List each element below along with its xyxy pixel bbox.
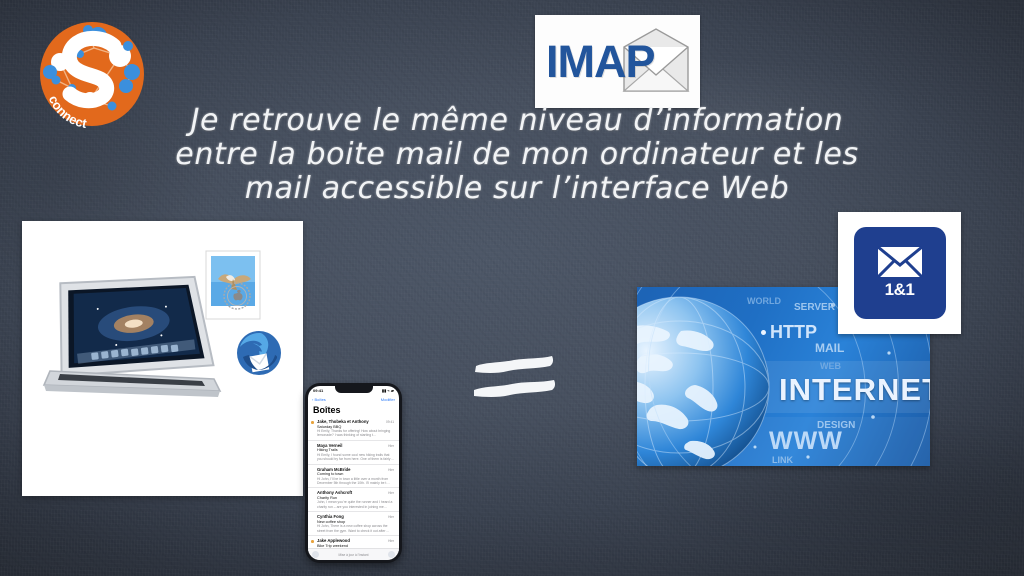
unread-dot <box>311 469 314 472</box>
mail-subject: Saturday BBQ <box>317 425 394 429</box>
mail-sender: Cynthia Fong <box>317 514 344 519</box>
mail-date: Hier <box>388 515 394 519</box>
nav-back-button[interactable]: ‹ Boîtes <box>312 397 326 402</box>
unread-dot <box>311 421 314 424</box>
imap-logo-card: IMAP <box>535 15 700 108</box>
nav-edit-button[interactable]: Modifier <box>381 397 395 402</box>
globe-word-web: WEB <box>820 361 841 371</box>
globe-word-server: SERVER <box>794 302 835 313</box>
globe-word-http: HTTP <box>770 322 817 343</box>
mail-sender: Jake Applewood <box>317 538 350 543</box>
nav-back-label: Boîtes <box>314 397 325 402</box>
mail-sender: Anthony Ashcroft <box>317 490 352 495</box>
list-item[interactable]: Cynthia Fong Hier New coffee shop Hi Joh… <box>308 512 399 536</box>
imap-label: IMAP <box>546 37 655 87</box>
mail-date: Hier <box>388 539 394 543</box>
compose-icon[interactable] <box>388 551 395 558</box>
oneandone-logo-card: 1&1 <box>838 212 961 334</box>
unread-dot <box>311 516 314 519</box>
unread-dot <box>311 492 314 495</box>
globe-word-internet: INTERNET <box>779 372 930 408</box>
mail-date: Hier <box>388 491 394 495</box>
computer-mail-panel <box>22 221 303 496</box>
page-title: Je retrouve le même niveau d’information… <box>92 104 942 206</box>
mail-date: Hier <box>388 468 394 472</box>
headline-line-2: entre la boite mail de mon ordinateur et… <box>92 138 942 172</box>
mail-preview: Hi Emily, I found some cool new hiking t… <box>317 453 394 462</box>
mail-sender: Graham McBride <box>317 467 351 472</box>
globe-word-www: WWW <box>769 427 843 456</box>
headline-line-3: mail accessible sur l’interface Web <box>92 172 942 206</box>
oneandone-label: 1&1 <box>885 280 915 300</box>
list-item[interactable]: Jake, Thobeka et Anthony 09:41 Saturday … <box>308 417 399 441</box>
apple-mail-stamp-icon <box>204 249 262 321</box>
unread-dot <box>311 540 314 543</box>
status-icons: ▮▮ ⌁ ▰ <box>382 388 394 393</box>
mail-date: Hier <box>388 444 394 448</box>
mail-list[interactable]: Jake, Thobeka et Anthony 09:41 Saturday … <box>308 417 399 551</box>
thunderbird-icon <box>235 329 283 377</box>
status-time: 09:41 <box>313 388 323 393</box>
mail-subject: Coming to town <box>317 472 394 476</box>
globe-word-world: WORLD <box>747 296 781 306</box>
mail-preview: Hi John, There is a new coffee shop acro… <box>317 524 394 533</box>
envelope-icon <box>877 246 923 278</box>
mail-subject: Charity Run <box>317 496 394 500</box>
mail-subject: Hiking Trails <box>317 448 394 452</box>
phone-notch <box>335 386 373 393</box>
mail-status-text: Mise à jour à l’instant <box>339 553 369 557</box>
headline-line-1: Je retrouve le même niveau d’information <box>92 104 942 138</box>
oneandone-tile: 1&1 <box>854 227 946 319</box>
globe-word-link: LINK <box>772 455 793 465</box>
mail-list-title: Boîtes <box>308 404 399 417</box>
mail-preview: Hi John, I’ll be in town a little over a… <box>317 477 394 486</box>
macbook-air-icon <box>42 267 222 417</box>
mail-toolbar[interactable]: Mise à jour à l’instant <box>308 548 399 560</box>
list-item[interactable]: Graham McBride Hier Coming to town Hi Jo… <box>308 465 399 489</box>
unread-dot <box>311 445 314 448</box>
list-item[interactable]: Anthony Ashcroft Hier Charity Run John, … <box>308 488 399 512</box>
iphone-mail-mockup: 09:41 ▮▮ ⌁ ▰ ‹ Boîtes Modifier Boîtes Ja… <box>305 383 402 563</box>
mail-preview: Hi Emily, Thanks for offering! How about… <box>317 429 394 438</box>
equals-sign: = <box>470 350 560 400</box>
mail-subject: New coffee shop <box>317 520 394 524</box>
filter-icon[interactable] <box>312 551 319 558</box>
phone-nav-bar: ‹ Boîtes Modifier <box>308 395 399 404</box>
mail-date: 09:41 <box>386 420 394 424</box>
mail-subject: Bike Trip weekend <box>317 544 394 548</box>
mail-sender: Jake, Thobeka et Anthony <box>317 419 369 424</box>
list-item[interactable]: Maya Verneil Hier Hiking Trails Hi Emily… <box>308 441 399 465</box>
globe-word-mail: MAIL <box>815 341 844 355</box>
mail-sender: Maya Verneil <box>317 443 342 448</box>
mail-preview: John, I mean you’re quite the runner and… <box>317 500 394 509</box>
